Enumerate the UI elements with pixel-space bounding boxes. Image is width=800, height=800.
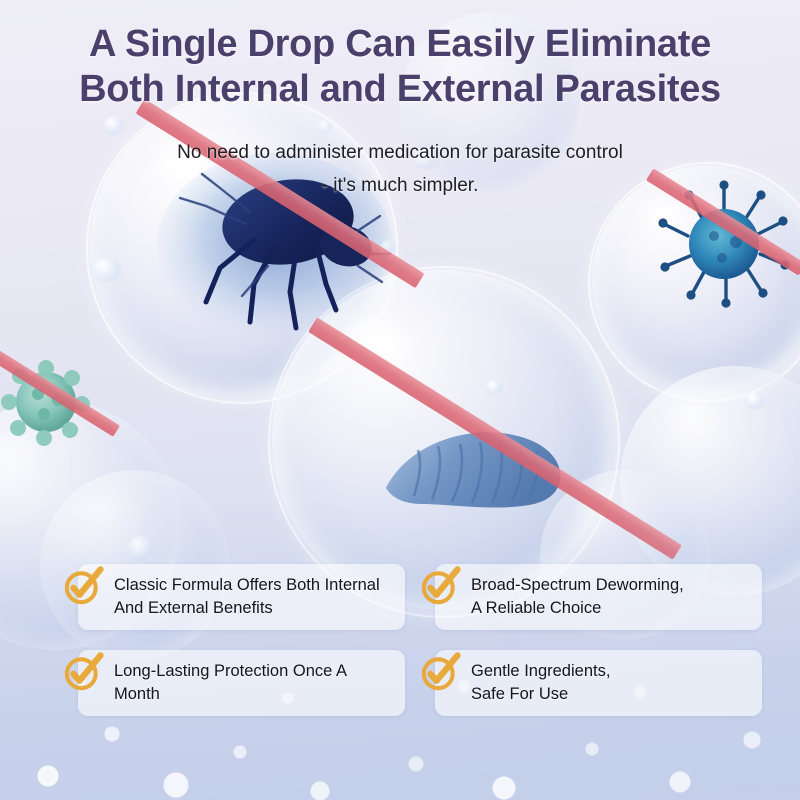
virus-particle-left: [0, 352, 96, 452]
headline-line-1: A Single Drop Can Easily Eliminate: [89, 23, 711, 65]
feature-line-1: Long-Lasting Protection Once A: [114, 662, 347, 680]
check-circle-icon: [62, 565, 104, 607]
check-circle-icon: [62, 651, 104, 693]
feature-line-2: And External Benefits: [114, 599, 273, 617]
subtitle: No need to administer medication for par…: [0, 136, 800, 203]
feature-card: Gentle Ingredients, Safe For Use: [419, 642, 762, 716]
feature-line-1: Classic Formula Offers Both Internal: [114, 576, 380, 594]
bubble-speck: [486, 380, 502, 396]
feature-list: Classic Formula Offers Both Internal And…: [62, 556, 762, 716]
strike-bar: [308, 317, 682, 559]
bubble-speck: [104, 116, 124, 136]
bubble-speck: [92, 258, 122, 282]
subtitle-line-1: No need to administer medication for par…: [177, 142, 623, 163]
check-circle-icon: [419, 565, 461, 607]
feature-line-1: Gentle Ingredients,: [471, 662, 610, 680]
feature-text: Gentle Ingredients, Safe For Use: [471, 652, 610, 706]
check-circle-icon: [419, 651, 461, 693]
feature-card: Broad-Spectrum Deworming, A Reliable Cho…: [419, 556, 762, 630]
promo-poster: A Single Drop Can Easily Eliminate Both …: [0, 0, 800, 800]
feature-line-2: Month: [114, 685, 160, 703]
page-title: A Single Drop Can Easily Eliminate Both …: [0, 22, 800, 112]
worm-larva-specimen: [370, 400, 610, 530]
feature-card: Classic Formula Offers Both Internal And…: [62, 556, 405, 630]
feature-text: Broad-Spectrum Deworming, A Reliable Cho…: [471, 566, 684, 620]
strike-bar: [0, 346, 120, 437]
feature-card: Long-Lasting Protection Once A Month: [62, 642, 405, 716]
feature-line-2: A Reliable Choice: [471, 599, 601, 617]
bubble-speck: [746, 392, 764, 410]
feature-text: Long-Lasting Protection Once A Month: [114, 652, 347, 706]
feature-text: Classic Formula Offers Both Internal And…: [114, 566, 380, 620]
subtitle-line-2: - it's much simpler.: [322, 175, 479, 196]
bubble-speck: [318, 120, 332, 134]
bubble-speck: [380, 240, 396, 256]
feature-line-1: Broad-Spectrum Deworming,: [471, 576, 684, 594]
headline-line-2: Both Internal and External Parasites: [24, 67, 776, 112]
feature-line-2: Safe For Use: [471, 685, 568, 703]
